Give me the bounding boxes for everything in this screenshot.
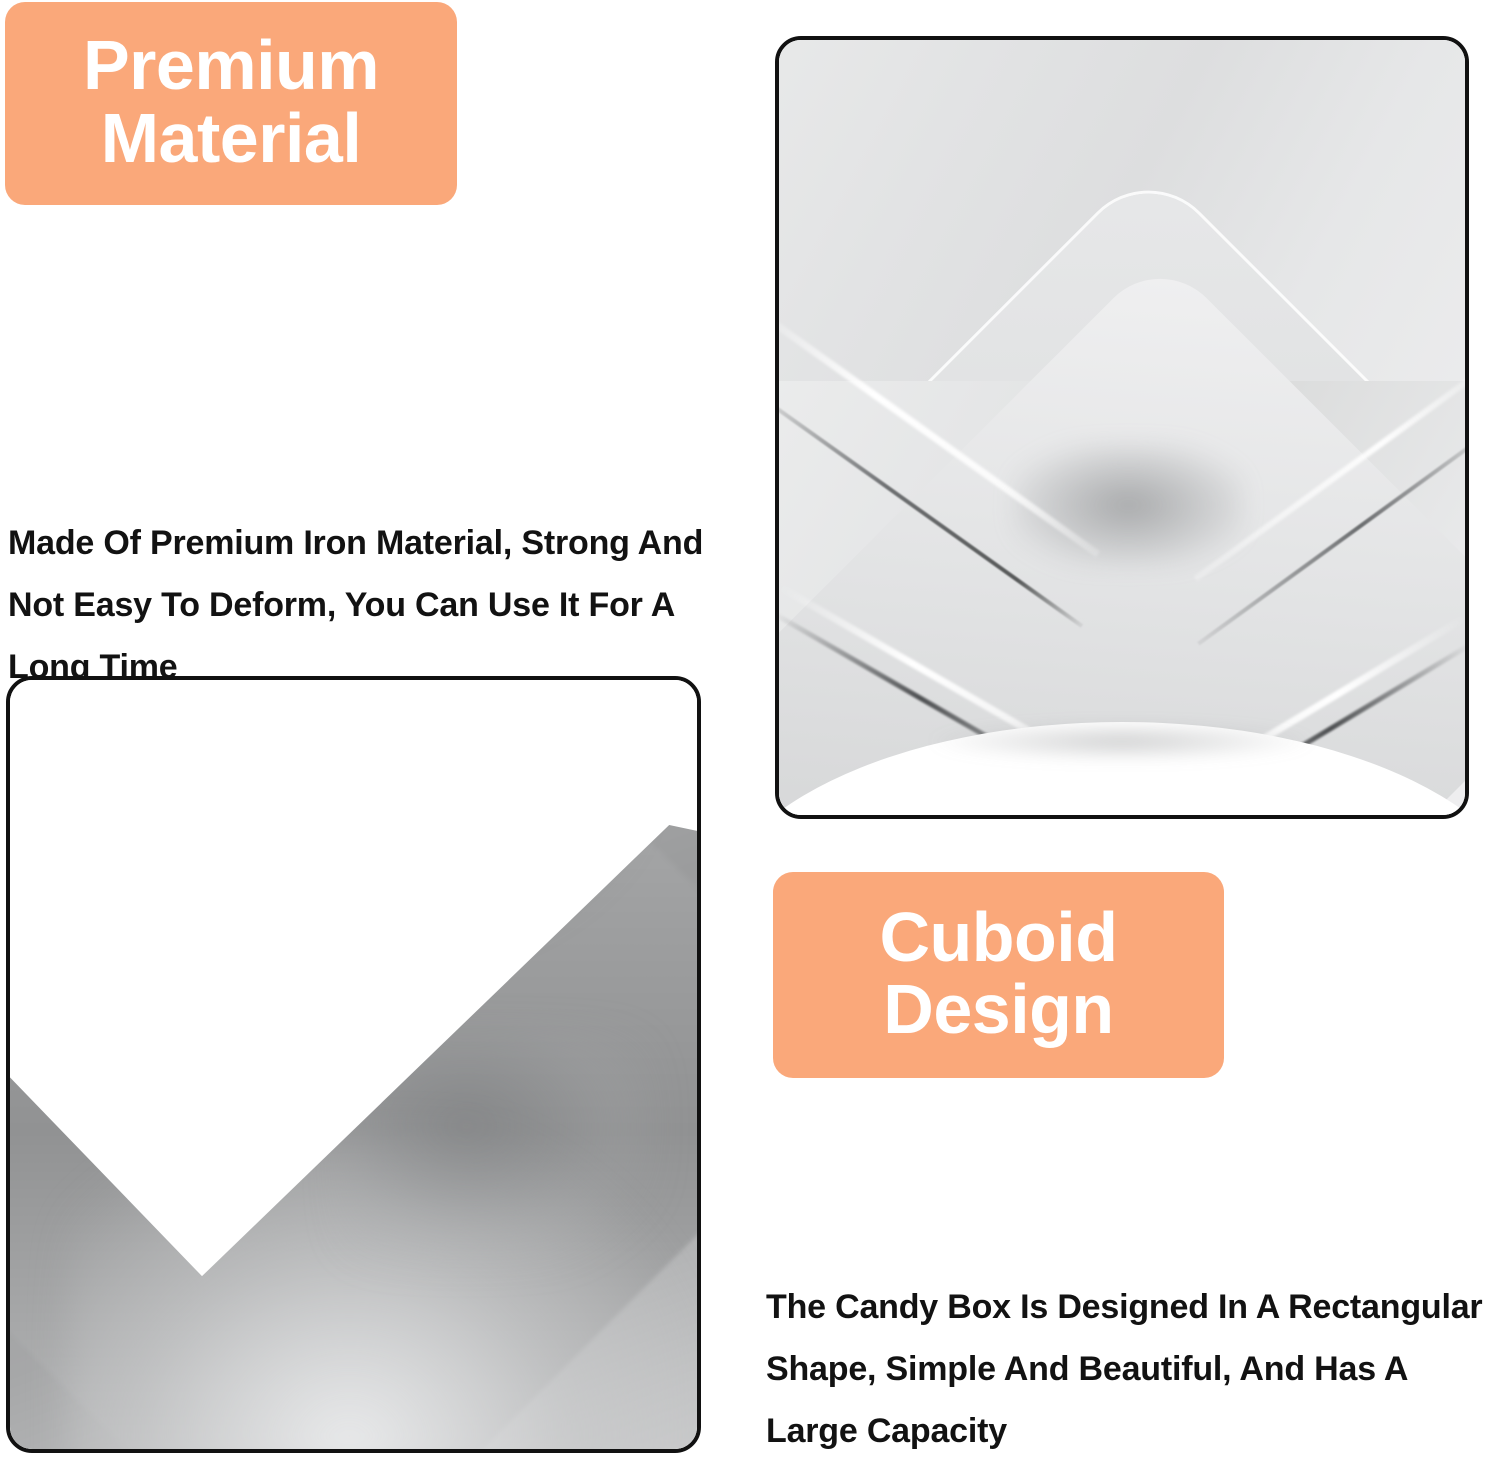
photo-canvas — [779, 40, 1465, 815]
feature-badge-cuboid-design: Cuboid Design — [773, 872, 1224, 1078]
badge-line-2: Material — [101, 102, 362, 174]
badge-line-1: Cuboid — [879, 901, 1117, 973]
badge-line-2: Design — [883, 973, 1113, 1045]
feature-badge-premium-material: Premium Material — [5, 2, 457, 205]
feature-description-premium-material: Made Of Premium Iron Material, Strong An… — [8, 512, 764, 698]
badge-line-1: Premium — [83, 29, 379, 101]
tin-box-interior-corner-photo — [6, 676, 701, 1453]
base-corner-shadow — [1012, 443, 1245, 567]
tin-box-lid-corner-photo — [775, 36, 1469, 819]
photo-canvas — [10, 680, 697, 1449]
feature-description-cuboid-design: The Candy Box Is Designed In A Rectangul… — [766, 1276, 1500, 1462]
contact-shadow — [930, 722, 1314, 761]
